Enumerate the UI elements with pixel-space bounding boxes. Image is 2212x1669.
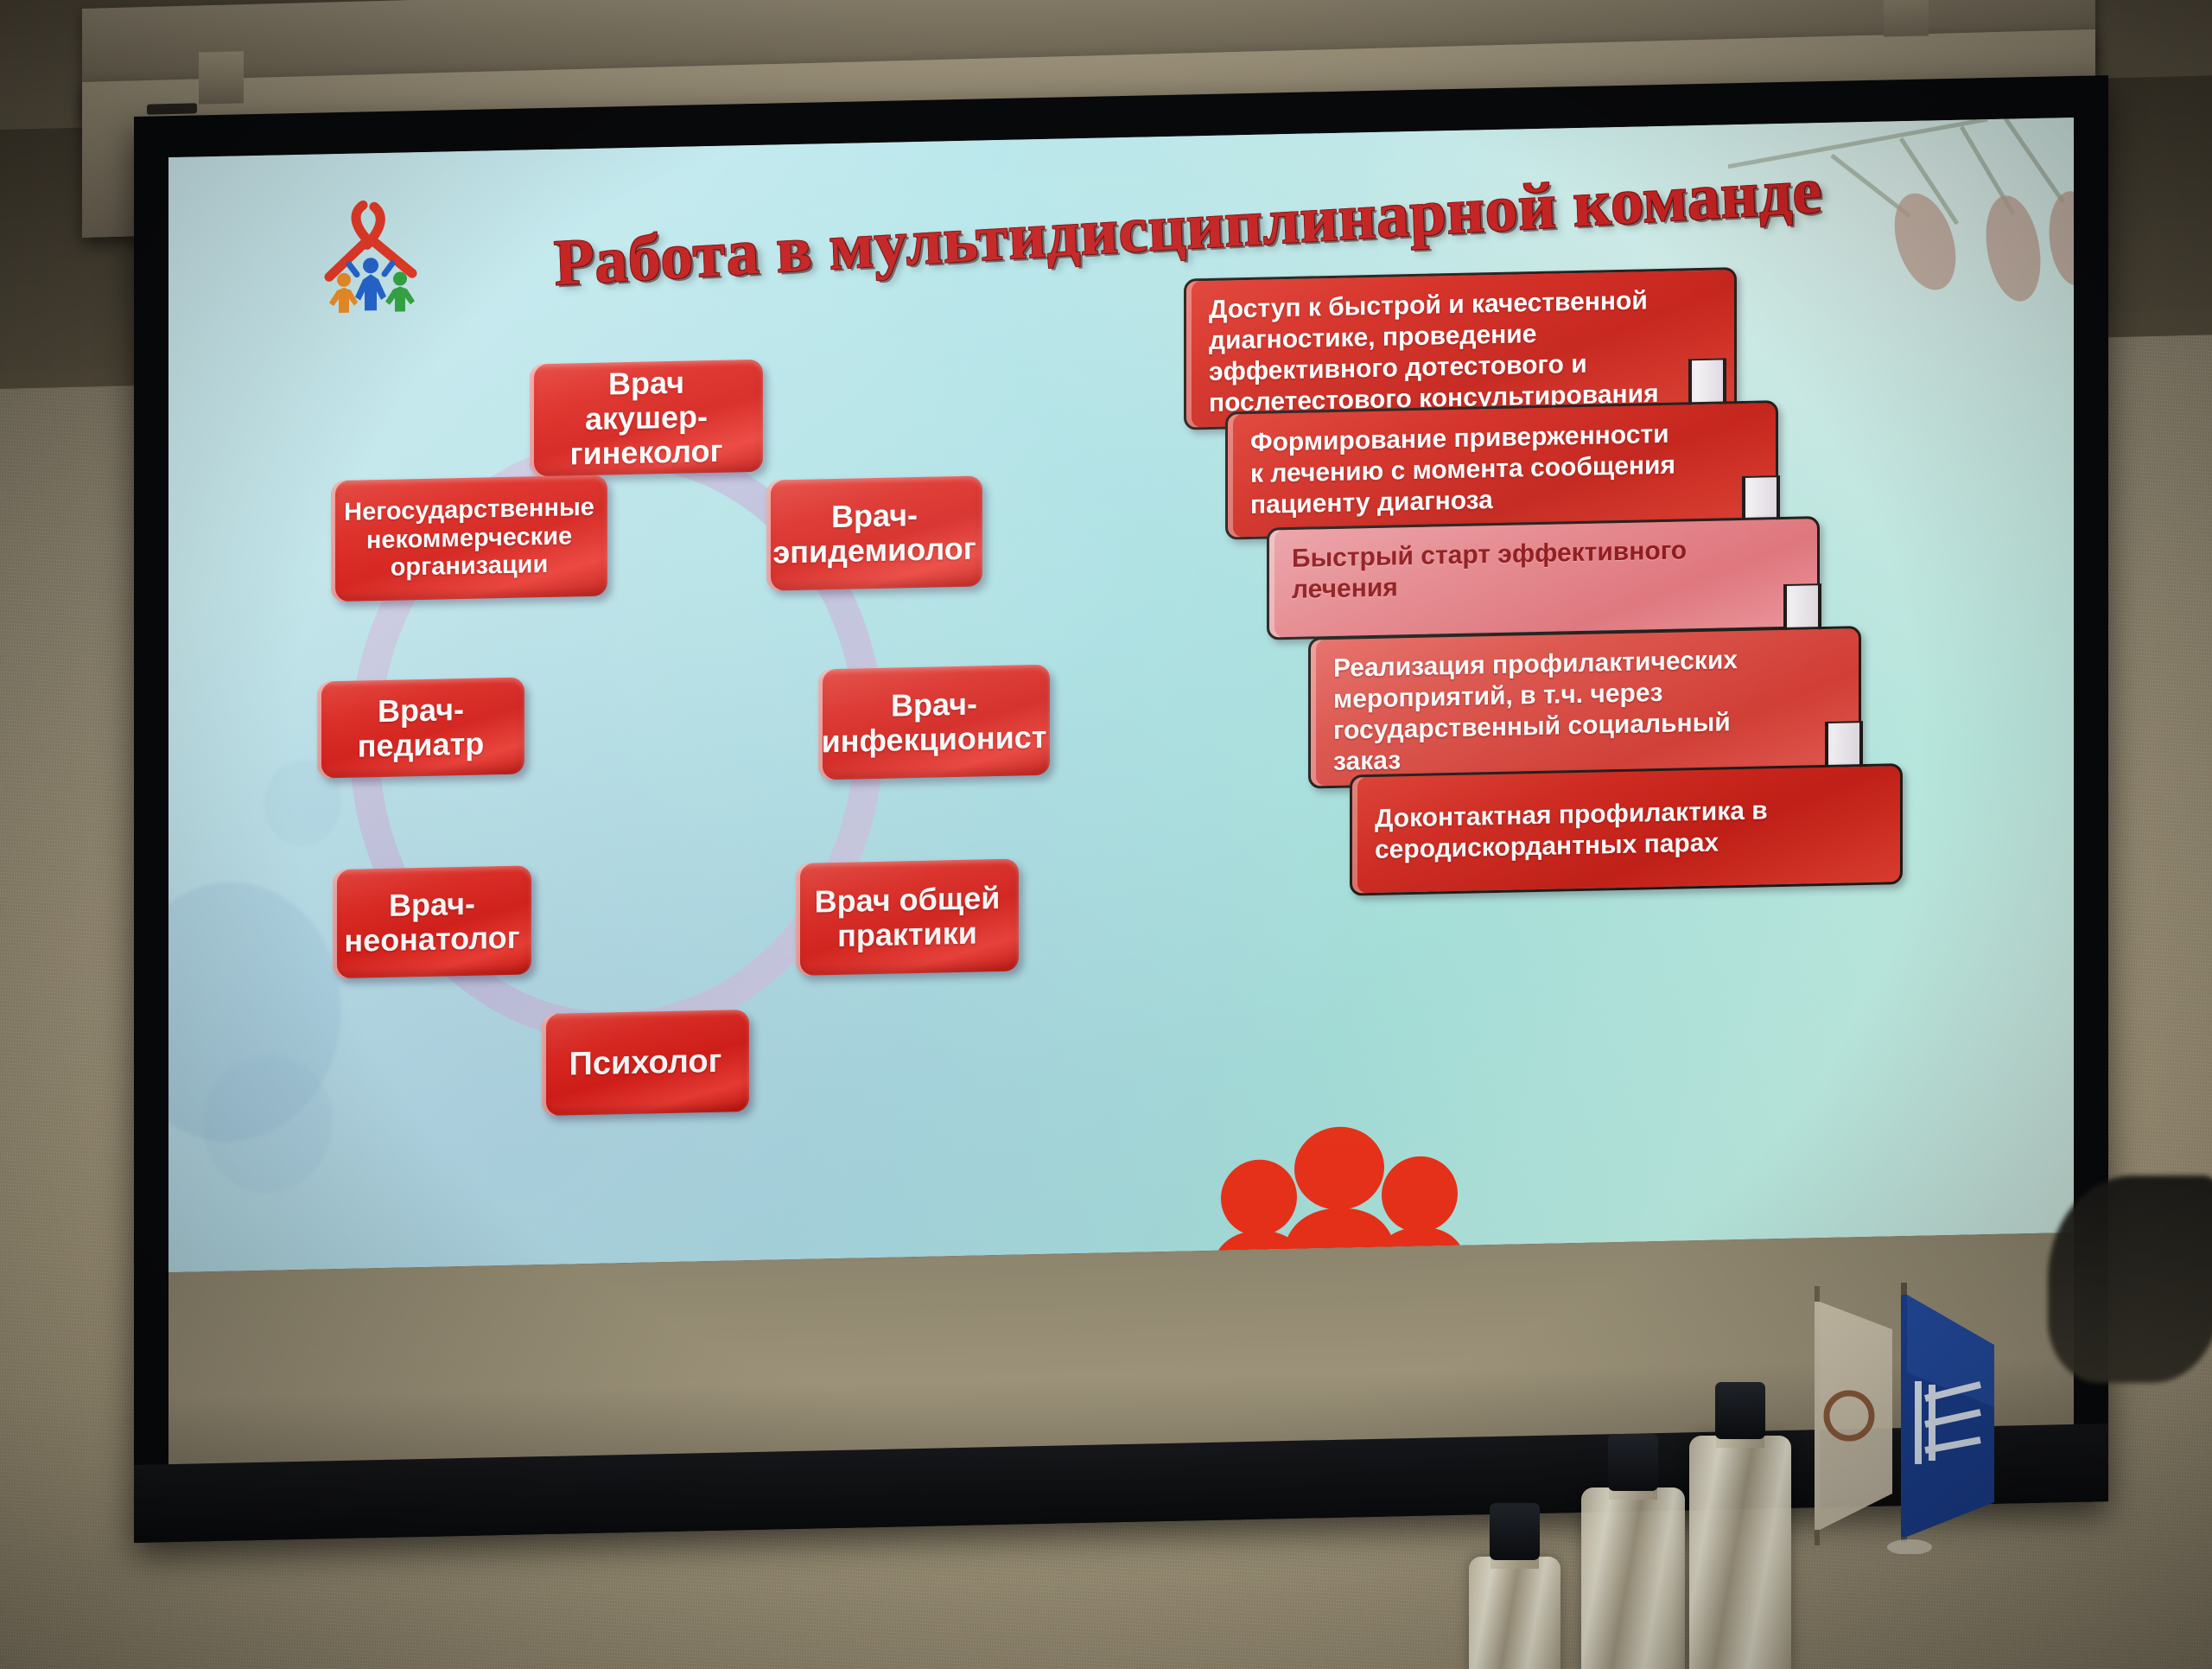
flow-step-3[interactable]: Быстрый старт эффективного лечения xyxy=(1267,516,1820,640)
desk-flag xyxy=(1780,1277,2039,1554)
flow-step-5[interactable]: Доконтактная профилактика в серодискорда… xyxy=(1350,763,1903,895)
roller-bracket-right xyxy=(1884,0,1929,37)
cycle-node-label: Врач-педиатр xyxy=(331,691,511,765)
cycle-node-label: Негосударственные некоммерческие организ… xyxy=(344,494,594,583)
water-bottle-3 xyxy=(1689,1436,1791,1669)
cycle-node-general-practice[interactable]: Врач общей практики xyxy=(796,859,1019,976)
water-bottle-2 xyxy=(1581,1487,1685,1669)
lecture-room: Работа в мультидисциплинарной команде xyxy=(0,0,2212,1669)
screen-surface: Работа в мультидисциплинарной команде xyxy=(168,118,2074,1272)
cycle-node-pediatrician[interactable]: Врач-педиатр xyxy=(317,678,524,779)
cycle-node-psychologist[interactable]: Психолог xyxy=(542,1010,749,1116)
presentation-slide: Работа в мультидисциплинарной команде xyxy=(168,118,2074,1272)
cycle-node-label: Врач общей практики xyxy=(815,881,1001,954)
cycle-node-infectionist[interactable]: Врач- инфекционист xyxy=(818,665,1050,780)
cycle-node-label: Психолог xyxy=(569,1042,722,1082)
flow-chart: Доступ к быстрой и качественной диагност… xyxy=(1184,260,2056,1056)
cycle-diagram: Врач акушер- гинеколог Врач- эпидемиолог… xyxy=(220,311,1084,1211)
cycle-node-obstetrician[interactable]: Врач акушер- гинеколог xyxy=(530,360,763,477)
aids-ribbon-house-logo xyxy=(322,194,426,317)
bottle-cap xyxy=(1715,1382,1765,1439)
water-bottle-1 xyxy=(1469,1557,1560,1669)
cycle-node-neonatologist[interactable]: Врач- неонатолог xyxy=(333,865,531,978)
cycle-node-label: Врач- инфекционист xyxy=(822,685,1047,760)
cycle-node-label: Врач- эпидемиолог xyxy=(772,496,976,570)
cycle-node-label: Врач- неонатолог xyxy=(344,885,519,959)
cycle-node-label: Врач акушер- гинеколог xyxy=(543,364,749,473)
roller-bracket-left xyxy=(199,51,244,104)
flow-step-4[interactable]: Реализация профилактических мероприятий,… xyxy=(1308,626,1861,788)
cycle-node-ngo[interactable]: Негосударственные некоммерческие организ… xyxy=(331,475,607,602)
bottle-cap xyxy=(1490,1503,1540,1560)
roller-slot xyxy=(147,103,197,115)
microphone-blur xyxy=(2048,1175,2212,1383)
bottle-cap xyxy=(1608,1434,1658,1491)
cycle-node-epidemiologist[interactable]: Врач- эпидемиолог xyxy=(766,475,982,590)
